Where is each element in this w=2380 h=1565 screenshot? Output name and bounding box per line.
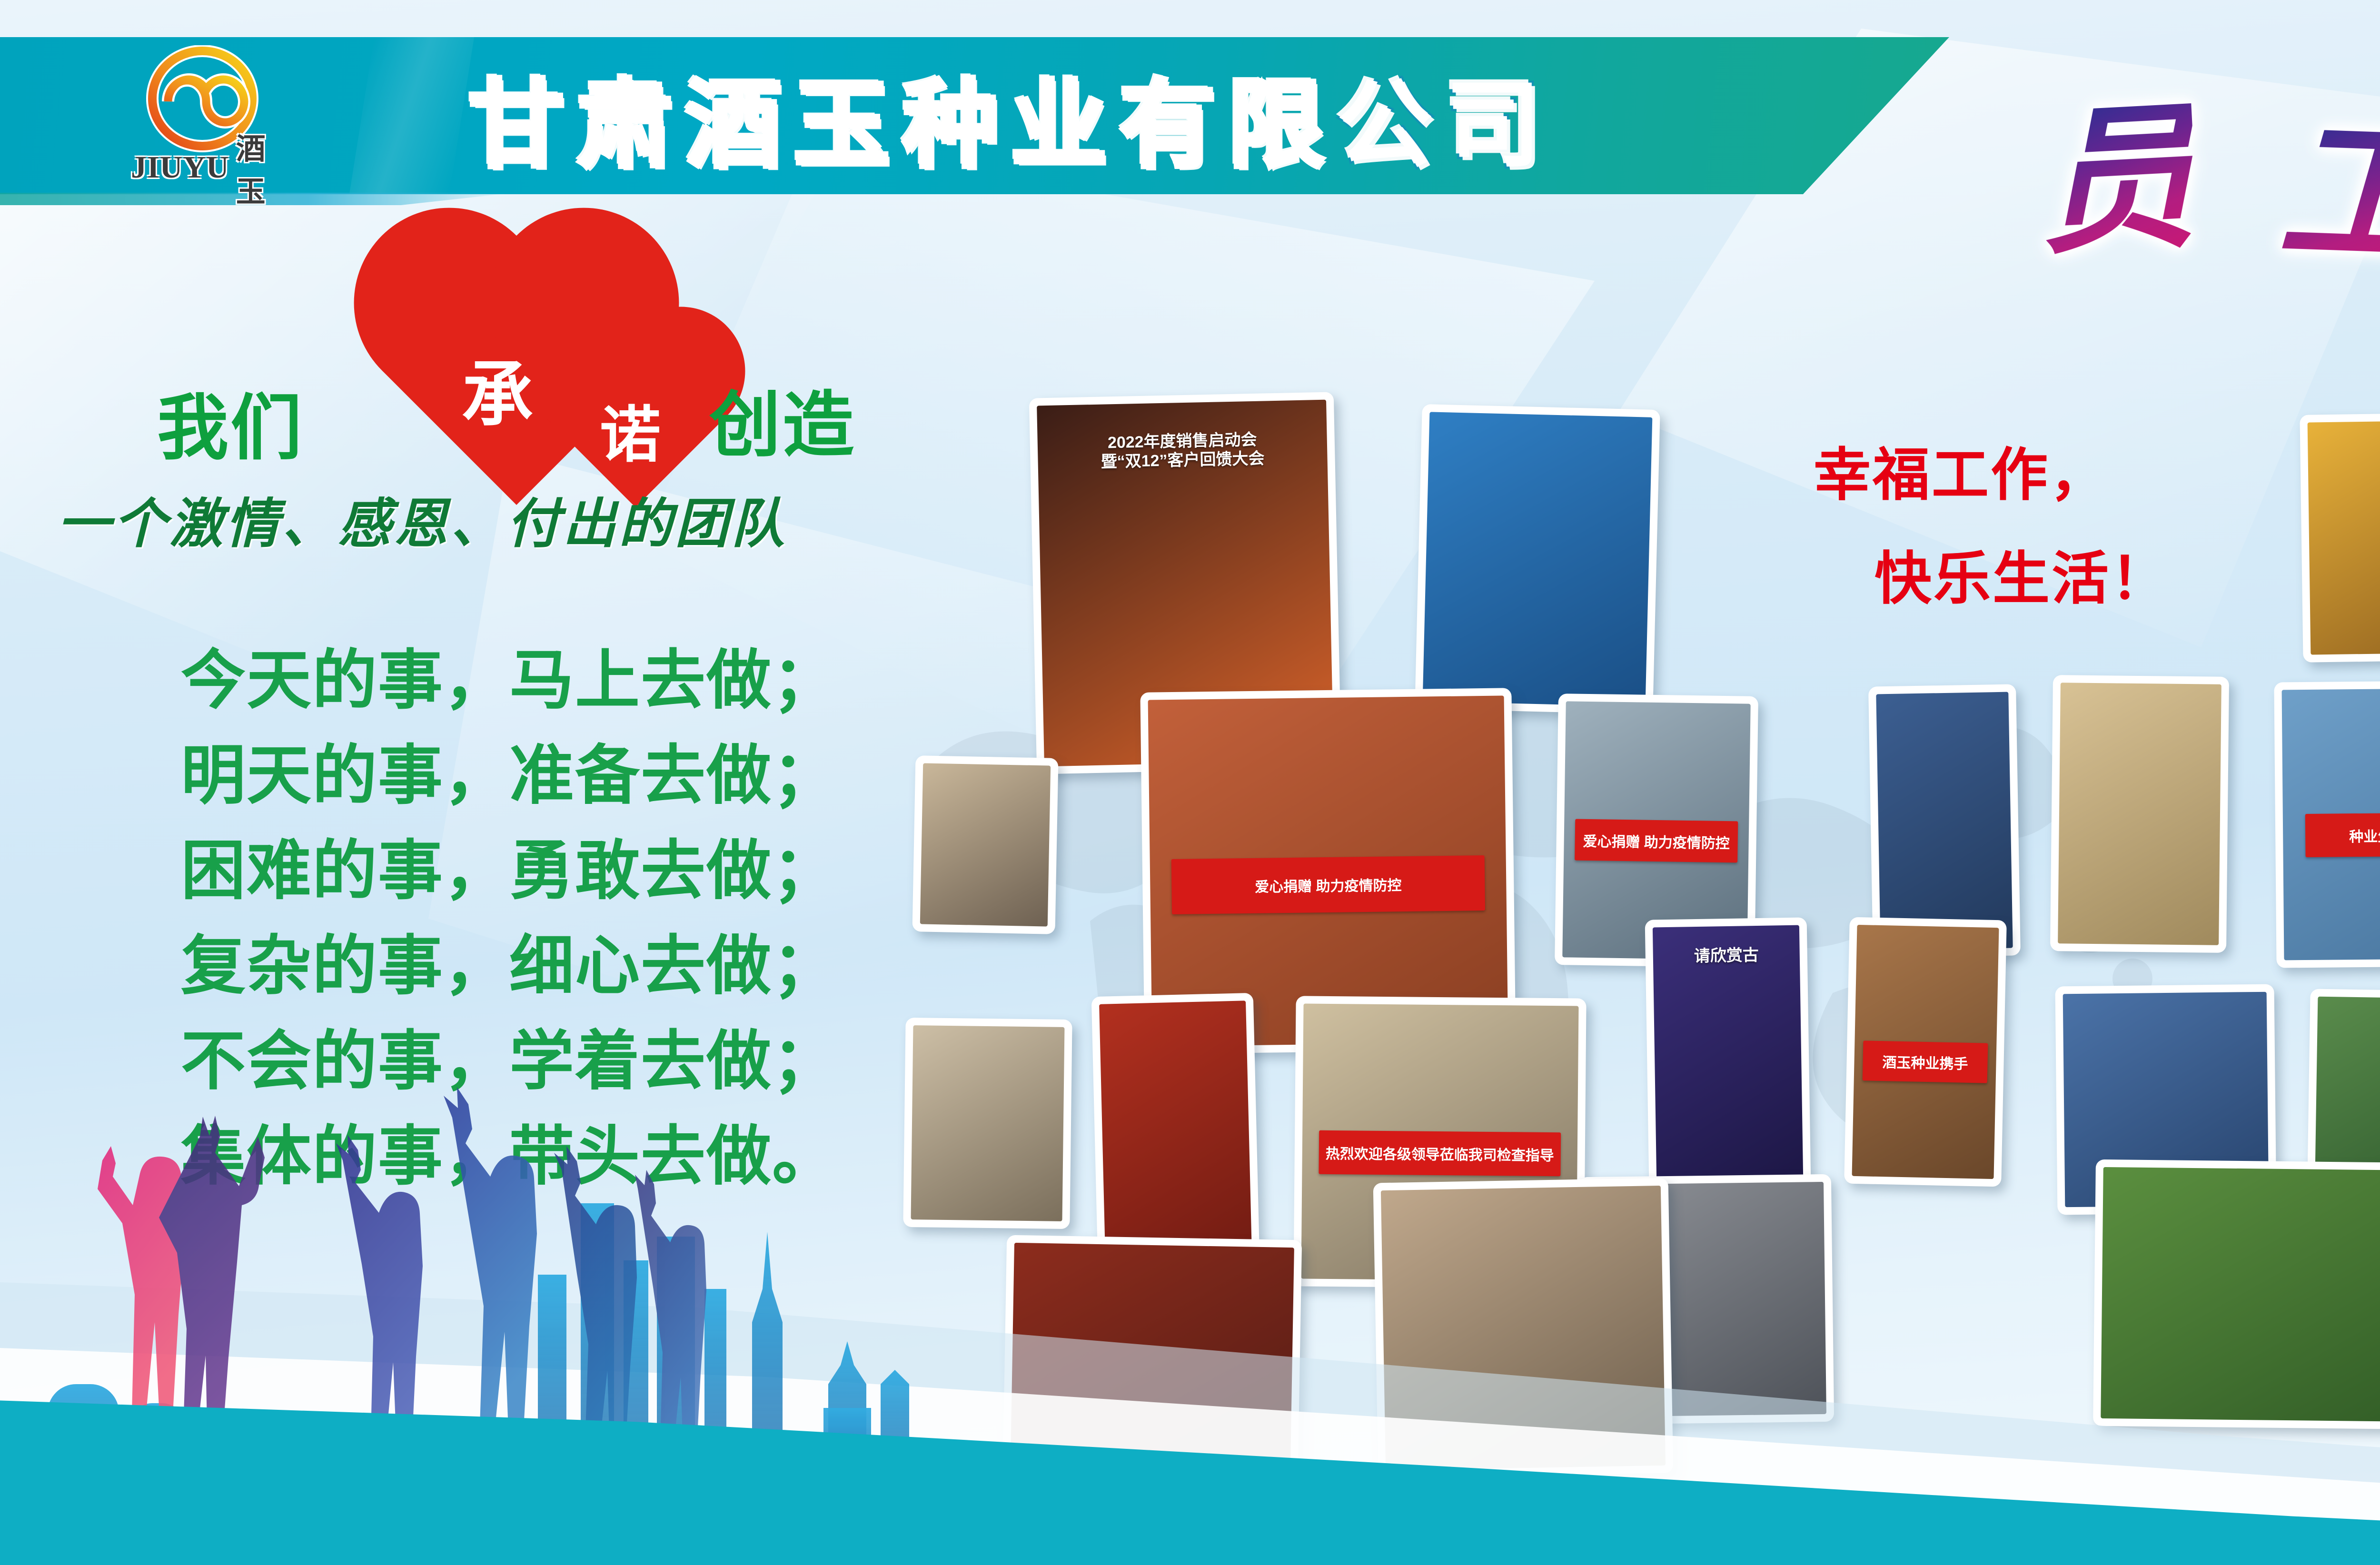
photo-office-meeting-long-table[interactable] bbox=[912, 755, 1058, 934]
team-tagline: 一个激情、感恩、付出的团队 bbox=[57, 481, 787, 558]
logo-english-text: JIUYU bbox=[131, 149, 229, 186]
photo-image bbox=[2308, 421, 2380, 654]
showcase-title: 员 工 风 采 bbox=[2037, 33, 2380, 300]
photo-meeting-room-honor-wall[interactable] bbox=[903, 1018, 1072, 1229]
photo-jiuyu-seed-speech[interactable]: 酒玉种业携手 bbox=[1844, 917, 2007, 1187]
company-name-tail: 公司 bbox=[1337, 48, 1554, 186]
photo-image bbox=[2058, 683, 2221, 945]
company-name-main: 甘肃酒玉种业有限 bbox=[469, 48, 1337, 186]
photo-image bbox=[1876, 692, 2013, 951]
photo-banner: 爱心捐赠 助力疫情防控 bbox=[1575, 819, 1738, 862]
photo-caption: 2022年度销售启动会暨“双12”客户回馈大会 bbox=[1049, 429, 1316, 473]
photo-image bbox=[1423, 412, 1653, 706]
header-band-sheen bbox=[349, 37, 474, 194]
verse-line: 复杂的事，细心去做； bbox=[181, 919, 923, 1014]
showcase-char-1: 员 bbox=[2032, 49, 2201, 285]
photo-banner: 酒玉种业携手 bbox=[1863, 1040, 1988, 1083]
red-slogan-line-2: 快乐生活！ bbox=[1874, 532, 2242, 615]
red-slogan: 幸福工作， 快乐生活！ bbox=[1814, 428, 2242, 615]
verse-line: 困难的事，勇敢去做； bbox=[181, 823, 923, 919]
photo-caption-2: 暨“双12”客户回馈大会 bbox=[1050, 448, 1316, 474]
photo-sphinx-travel[interactable] bbox=[2050, 675, 2229, 953]
company-logo: JIUYU 酒玉 bbox=[131, 45, 274, 188]
employee-showcase-poster: JIUYU 酒玉 甘肃酒玉种业有限公司 员 工 风 采 我们 承 诺 创造 一个… bbox=[0, 0, 2380, 1565]
photo-drone-spraying-demo[interactable]: 种业生产基地飞机喷雾统防现场观摩会 bbox=[2274, 679, 2380, 968]
promise-we: 我们 bbox=[157, 370, 304, 474]
promise-slogan: 我们 承 诺 创造 bbox=[157, 267, 938, 471]
photo-corn-cobs-portrait[interactable] bbox=[2300, 413, 2380, 663]
photo-image bbox=[920, 763, 1051, 926]
photo-host-performance-stage[interactable]: 请欣赏古 bbox=[1645, 917, 1811, 1186]
promise-nuo: 诺 bbox=[600, 386, 663, 474]
photo-banner: 种业生产基地飞机喷雾统防现场观摩会 bbox=[2305, 811, 2380, 857]
photo-image: 请欣赏古 bbox=[1653, 925, 1803, 1179]
photo-image bbox=[1099, 1000, 1252, 1274]
photo-banner: 热烈欢迎各级领导莅临我司检查指导 bbox=[1319, 1130, 1561, 1177]
photo-caption: 请欣赏古 bbox=[1659, 945, 1794, 967]
photo-image: 种业生产基地飞机喷雾统防现场观摩会 bbox=[2282, 687, 2380, 961]
promise-create: 创造 bbox=[709, 367, 856, 471]
photo-image bbox=[911, 1025, 1065, 1221]
company-name: 甘肃酒玉种业有限公司 bbox=[469, 55, 1554, 178]
logo-wordmark: JIUYU 酒玉 bbox=[131, 149, 274, 186]
photo-hands-circle-sky[interactable] bbox=[1415, 404, 1660, 714]
logo-chinese-text: 酒玉 bbox=[236, 125, 274, 210]
photo-corn-field-flags[interactable] bbox=[2093, 1159, 2380, 1430]
promise-cheng: 承 bbox=[462, 337, 535, 440]
verse-line: 明天的事，准备去做； bbox=[181, 728, 923, 823]
verse-line: 今天的事，马上去做； bbox=[181, 633, 923, 728]
showcase-char-2: 工 bbox=[2276, 63, 2380, 296]
photo-banner: 爱心捐赠 助力疫情防控 bbox=[1171, 855, 1486, 915]
photo-image: 酒玉种业携手 bbox=[1852, 925, 1999, 1179]
red-slogan-line-1: 幸福工作， bbox=[1814, 428, 2242, 511]
photo-team-formation-outdoor[interactable] bbox=[1868, 684, 2021, 958]
photo-image bbox=[2101, 1167, 2380, 1422]
